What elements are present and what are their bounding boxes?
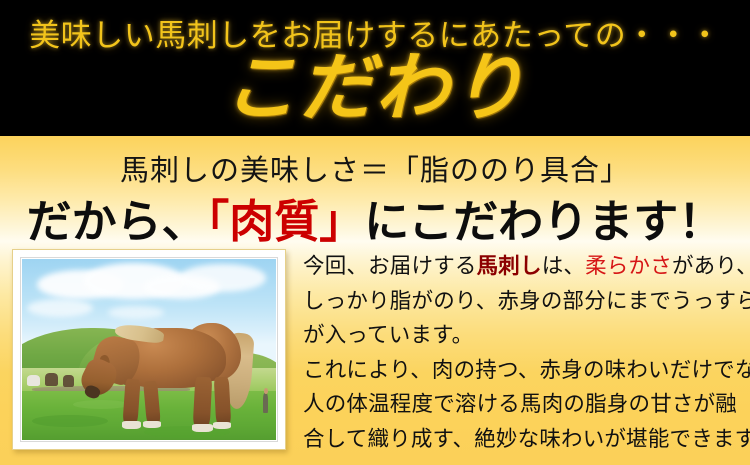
photo-frame bbox=[12, 249, 286, 450]
header-headline-text: こだわり bbox=[0, 49, 750, 127]
subhead-line-2: だから、「肉質」にこだわります！ bbox=[0, 185, 750, 250]
horse-photo bbox=[22, 259, 276, 440]
promo-banner: 美味しい馬刺しをお届けするにあたっての・・・ こだわり 馬刺しの美味しさ＝「脂の… bbox=[0, 0, 750, 465]
copy-line-1-c: は、 bbox=[542, 254, 585, 278]
horse-hoof bbox=[143, 421, 161, 429]
copy-line-1: 今回、お届けする馬刺しは、柔らかさがあり、かつ bbox=[303, 249, 743, 284]
photo-mat bbox=[20, 257, 278, 442]
body-copy: 今回、お届けする馬刺しは、柔らかさがあり、かつ しっかり脂がのり、赤身の部分にま… bbox=[303, 249, 743, 456]
header-band: 美味しい馬刺しをお届けするにあたっての・・・ こだわり bbox=[0, 0, 750, 136]
horse-leg bbox=[193, 376, 213, 428]
distant-horse bbox=[45, 373, 58, 386]
copy-line-2: しっかり脂がのり、赤身の部分にまでうっすらとさし bbox=[303, 284, 743, 319]
horse-hoof bbox=[213, 422, 232, 430]
copy-line-4: これにより、肉の持つ、赤身の味わいだけでなく、 bbox=[303, 353, 743, 388]
copy-highlight-yawarakasa: 柔らかさ bbox=[585, 254, 672, 278]
copy-line-1-e: があり、かつ bbox=[672, 254, 750, 278]
subhead-line-2-post: にこだわります！ bbox=[364, 195, 723, 248]
cloud-shape bbox=[108, 306, 164, 319]
subhead-line-2-accent: 「肉質」 bbox=[207, 195, 365, 248]
horse-hoof bbox=[122, 421, 141, 429]
cloud-shape bbox=[179, 264, 265, 291]
horse-leg bbox=[123, 378, 141, 425]
cloud-shape bbox=[27, 299, 93, 317]
copy-line-3: が入っています。 bbox=[303, 318, 743, 353]
copy-highlight-basashi: 馬刺し bbox=[477, 254, 542, 278]
copy-line-6: 合して織り成す、絶妙な味わいが堪能できます。 bbox=[303, 422, 743, 457]
distant-white-horse bbox=[27, 375, 40, 386]
horse-hoof bbox=[192, 424, 213, 432]
subhead-line-1: 馬刺しの美味しさ＝「脂ののり具合」 bbox=[0, 147, 750, 189]
distant-horse bbox=[63, 375, 74, 387]
horse-leg bbox=[213, 376, 231, 425]
subhead-line-2-pre: だから、 bbox=[27, 195, 207, 248]
copy-line-1-a: 今回、お届けする bbox=[303, 254, 477, 278]
copy-line-5: 人の体温程度で溶ける馬肉の脂身の甘さが融 bbox=[303, 387, 743, 422]
main-horse bbox=[83, 319, 271, 435]
